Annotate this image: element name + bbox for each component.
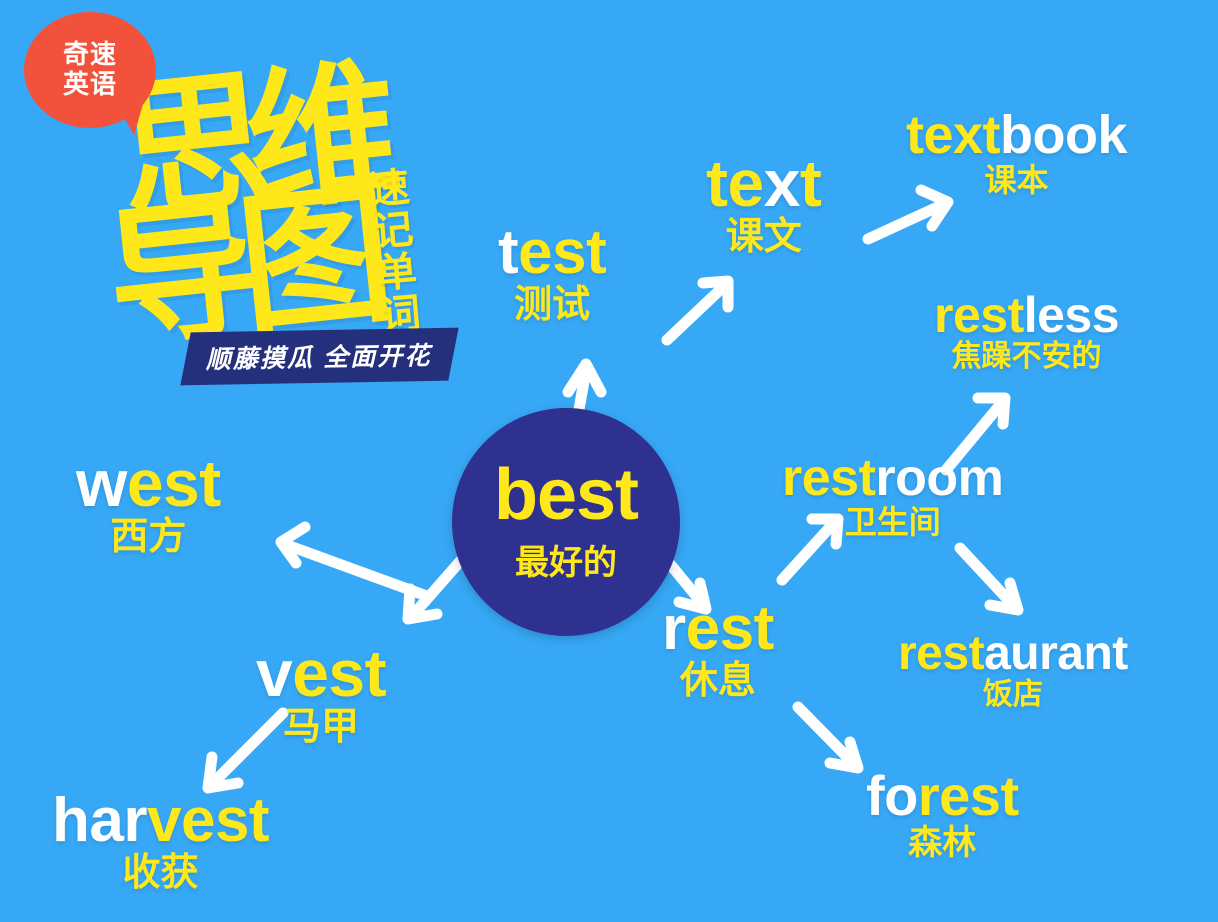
word-node-textbook-meaning: 课本 [906,164,1127,196]
word-node-restless-meaning: 焦躁不安的 [934,342,1119,372]
word-node-textbook-word: textbook [906,108,1127,162]
vertical-subtitle-char-2: 记 [362,208,423,255]
slogan-banner: 顺藤摸瓜 全面开花 [180,328,458,386]
word-node-harvest-word: harvest [52,790,269,852]
arrow-text-to-textbook [868,190,948,239]
center-node-word: best [494,460,638,531]
word-node-forest-meaning: 森林 [866,826,1019,860]
brand-badge-line1: 奇速 [63,40,117,70]
slogan-text: 顺藤摸瓜 全面开花 [205,336,431,376]
word-node-rest-word: rest [662,598,774,660]
word-node-test-word: test [498,222,606,284]
word-node-restless-word: restless [934,290,1119,340]
word-node-restroom-meaning: 卫生间 [782,506,1003,538]
word-node-rest-meaning: 休息 [662,662,774,700]
center-node-best[interactable]: best 最好的 [452,408,680,636]
arrow-rest-to-forest [798,707,858,768]
word-node-restaurant-meaning: 饭店 [898,680,1128,710]
brand-badge: 奇速 英语 [24,12,156,128]
word-node-vest-word: vest [256,640,386,706]
word-node-west[interactable]: west 西方 [76,450,221,556]
mindmap-canvas: .arw { stroke:#ffffff; stroke-width:11; … [0,0,1218,922]
word-node-vest[interactable]: vest 马甲 [256,640,386,746]
vertical-subtitle-char-1: 速 [359,166,420,213]
word-node-harvest[interactable]: harvest 收获 [52,790,269,892]
word-node-test[interactable]: test 测试 [498,222,606,324]
word-node-west-word: west [76,450,221,516]
center-node-meaning: 最好的 [515,535,617,584]
vertical-subtitle-char-3: 单 [366,249,427,296]
brand-badge-line2: 英语 [63,70,117,100]
arrow-best-to-west [281,527,424,595]
word-node-forest[interactable]: forest 森林 [866,768,1019,860]
word-node-restroom-word: restroom [782,452,1003,504]
word-node-vest-meaning: 马甲 [256,708,386,746]
word-node-restaurant[interactable]: restaurant 饭店 [898,630,1128,710]
word-node-restless[interactable]: restless 焦躁不安的 [934,290,1119,372]
word-node-test-meaning: 测试 [498,286,606,324]
word-node-west-meaning: 西方 [76,518,221,556]
word-node-forest-word: forest [866,768,1019,824]
word-node-text[interactable]: text 课文 [706,150,821,256]
word-node-restaurant-word: restaurant [898,630,1128,678]
word-node-restroom[interactable]: restroom 卫生间 [782,452,1003,538]
word-node-harvest-meaning: 收获 [52,854,269,892]
word-node-text-meaning: 课文 [706,218,821,256]
word-node-text-word: text [706,150,821,216]
arrow-test-to-text [667,281,728,340]
word-node-textbook[interactable]: textbook 课本 [906,108,1127,196]
word-node-rest[interactable]: rest 休息 [662,598,774,700]
arrow-restroom-to-restaurant [960,548,1018,610]
